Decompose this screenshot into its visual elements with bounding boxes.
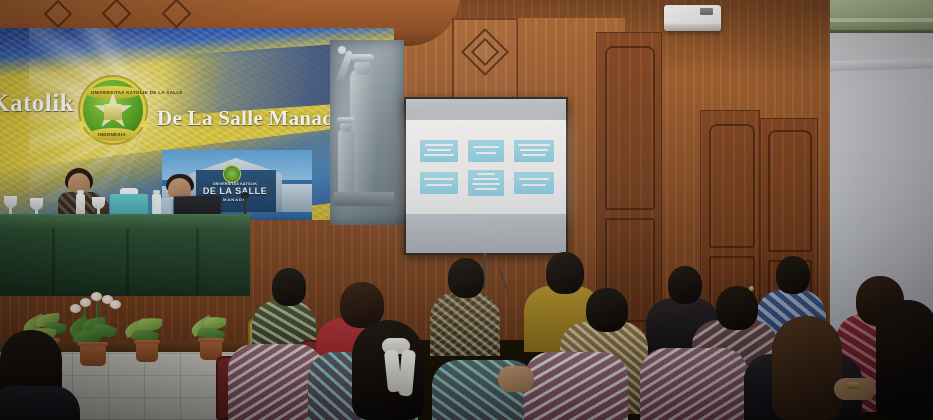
audience-member-head (546, 252, 584, 294)
projected-slide (406, 120, 566, 216)
slide-box-5 (468, 170, 504, 196)
statue-hat (351, 54, 374, 62)
table-skirt-fold (52, 228, 55, 294)
audience-member-body (430, 292, 500, 356)
audience-member-body (524, 352, 628, 420)
water-bottle-cap (153, 190, 160, 194)
plant-pot-rim (77, 342, 108, 346)
air-conditioner-vent (664, 24, 721, 31)
head-table-skirt (0, 218, 250, 296)
plant-pot (136, 342, 158, 362)
flower (110, 300, 121, 309)
audience-member-head-front (772, 316, 842, 420)
statue-child-figure (338, 128, 354, 192)
audience-member-head (448, 258, 484, 298)
table-skirt-fold (196, 228, 199, 294)
head-table-cloth (0, 218, 250, 228)
statue-base (334, 192, 394, 206)
projection-screen-bottom (406, 214, 566, 253)
banner-text-left: Katolik (0, 90, 74, 118)
plant-pot-rim (134, 340, 160, 344)
wall-door-left[interactable] (596, 32, 662, 332)
slide-box-2 (468, 140, 504, 162)
water-bottle-cap (77, 190, 84, 194)
audience-member-head (716, 286, 758, 330)
campus-seal-icon (224, 166, 240, 182)
door-panel (768, 130, 812, 252)
cross-icon-left (80, 121, 83, 132)
audience-member-head (776, 256, 810, 294)
cross-icon-right (143, 121, 146, 132)
door-panel (709, 124, 755, 248)
seal-bottom-text: INDONESIA (98, 132, 126, 137)
audience-member-head (586, 288, 628, 332)
university-seal-icon: UNIVERSITAS KATOLIK DE LA SALLE INDONESI… (79, 76, 147, 148)
audience-member-body (640, 348, 748, 420)
slide-box-1 (420, 140, 458, 162)
wristwatch (846, 382, 860, 389)
air-conditioner-display (700, 8, 713, 15)
statue-hand (338, 46, 346, 54)
flower (70, 304, 81, 313)
plant-pot-rim (198, 338, 224, 342)
audience-member-head (272, 268, 306, 306)
statue-child-hat (337, 117, 355, 123)
audience-member-body (0, 386, 80, 420)
table-skirt-fold (126, 228, 129, 294)
flower (91, 292, 102, 301)
auditorium-photo: UNIVERSITAS KATOLIK DE LA SALLE MANADO K… (0, 0, 933, 420)
slide-box-6 (514, 172, 554, 194)
flower (80, 298, 91, 307)
plant-pot (80, 344, 106, 366)
slide-box-3 (514, 140, 554, 162)
audience-member-head-front (876, 300, 933, 420)
banner-text-right: De La Salle Manado (157, 106, 345, 131)
audience-arm (498, 366, 534, 392)
seal-top-text: UNIVERSITAS KATOLIK DE LA SALLE (91, 90, 183, 95)
campus-sign-line2: DE LA SALLE (200, 186, 270, 196)
door-panel (605, 46, 655, 210)
slide-box-4 (420, 172, 458, 194)
audience-member-head (668, 266, 702, 304)
seal-star-core (104, 104, 122, 120)
